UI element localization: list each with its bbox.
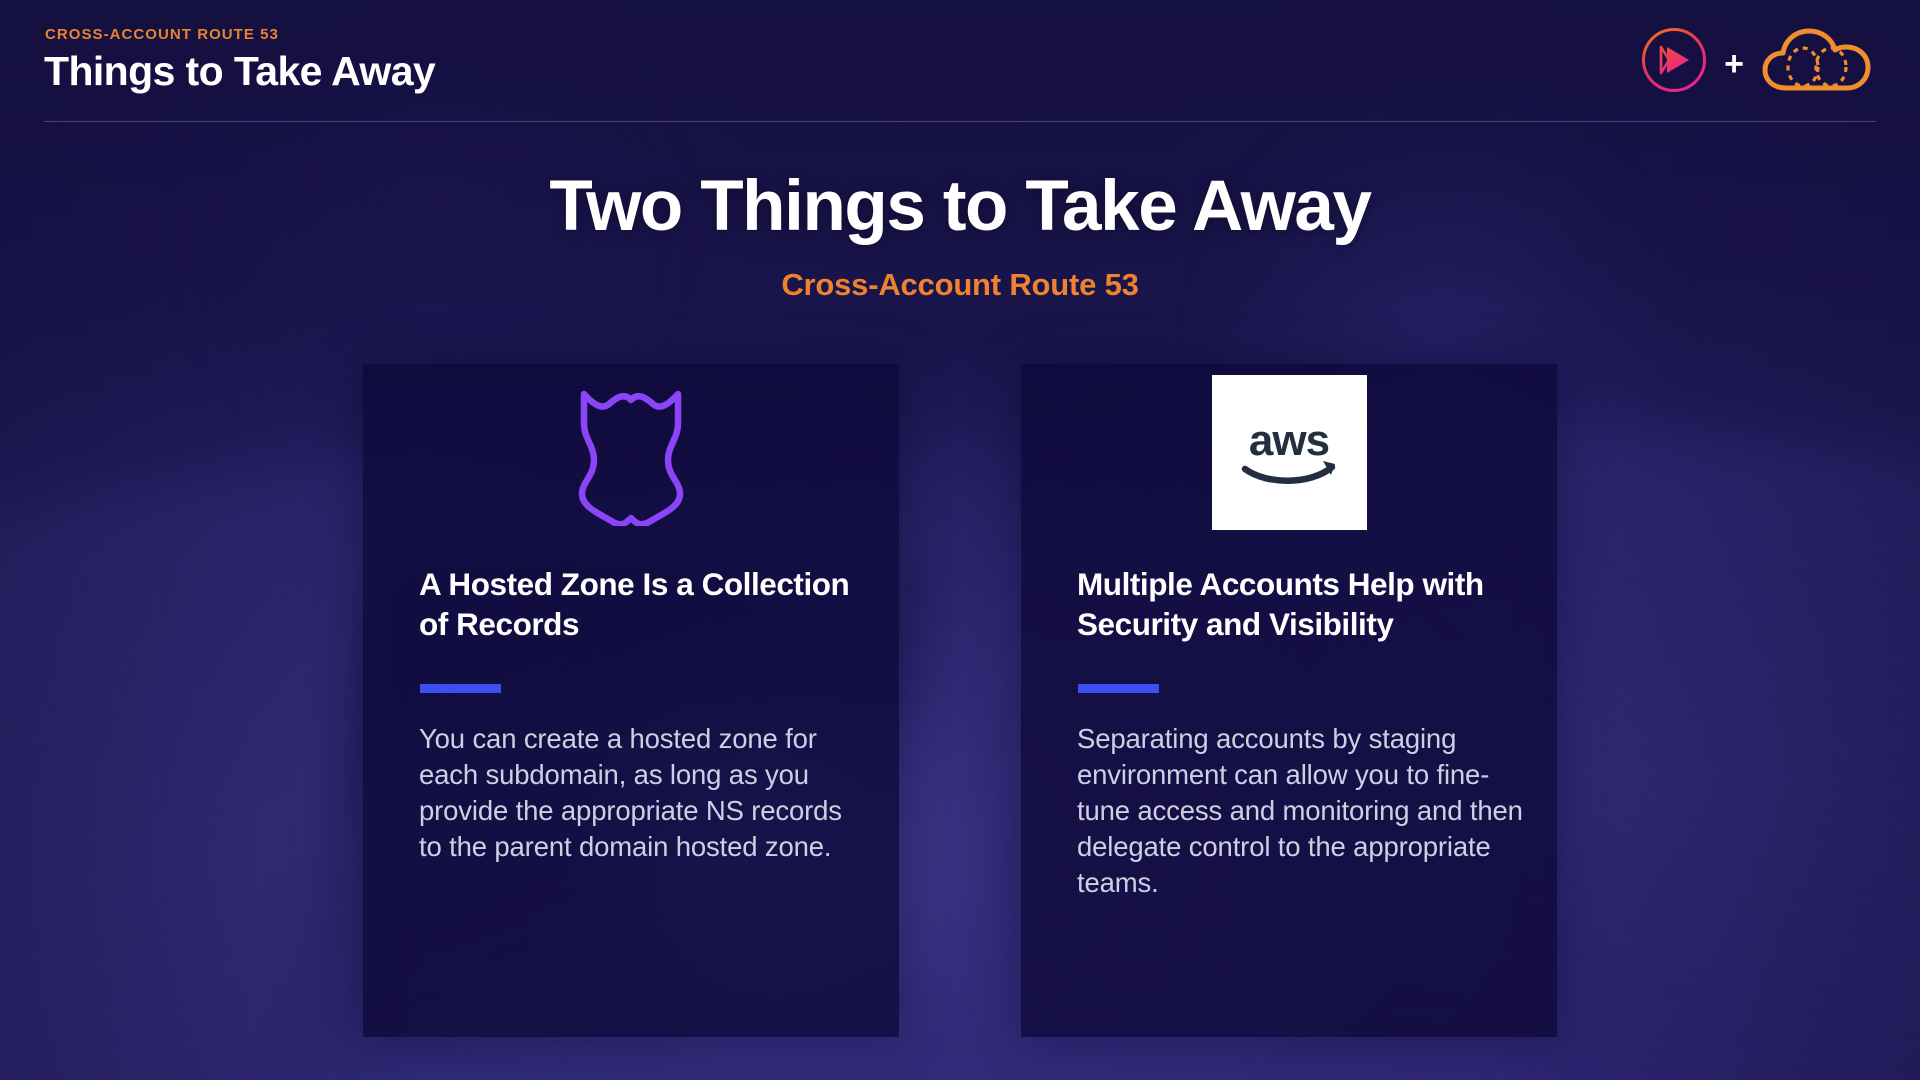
- cloud-outline-logo-icon: [1758, 22, 1878, 103]
- page-title: Two Things to Take Away: [0, 166, 1920, 247]
- aws-logo-icon: aws: [1212, 375, 1367, 530]
- card-2-heading: Multiple Accounts Help with Security and…: [1077, 564, 1517, 644]
- header-divider: [44, 121, 1876, 122]
- card-1-body: You can create a hosted zone for each su…: [419, 721, 869, 865]
- background-vignette: [0, 0, 1920, 1080]
- header-title: Things to Take Away: [44, 48, 435, 95]
- plus-separator: +: [1724, 47, 1744, 81]
- card-1-icon-slot: [363, 364, 899, 540]
- slide-root: CROSS-ACCOUNT ROUTE 53 Things to Take Aw…: [0, 0, 1920, 1080]
- slide-header: CROSS-ACCOUNT ROUTE 53 Things to Take Aw…: [0, 0, 1920, 124]
- takeaway-card-2: aws Multiple Accounts Help with Security…: [1021, 364, 1557, 1037]
- header-logo-group: +: [1638, 22, 1878, 103]
- header-kicker: CROSS-ACCOUNT ROUTE 53: [45, 26, 279, 43]
- page-subtitle: Cross-Account Route 53: [0, 267, 1920, 303]
- card-2-icon-slot: aws: [1021, 364, 1557, 540]
- card-2-body: Separating accounts by staging environme…: [1077, 721, 1527, 901]
- card-2-accent-bar: [1078, 684, 1159, 693]
- svg-text:aws: aws: [1249, 416, 1329, 465]
- play-circle-logo-icon: [1638, 24, 1710, 101]
- route53-shield-icon: [560, 374, 702, 531]
- card-1-heading: A Hosted Zone Is a Collection of Records: [419, 564, 859, 644]
- card-1-accent-bar: [420, 684, 501, 693]
- takeaway-card-1: A Hosted Zone Is a Collection of Records…: [363, 364, 899, 1037]
